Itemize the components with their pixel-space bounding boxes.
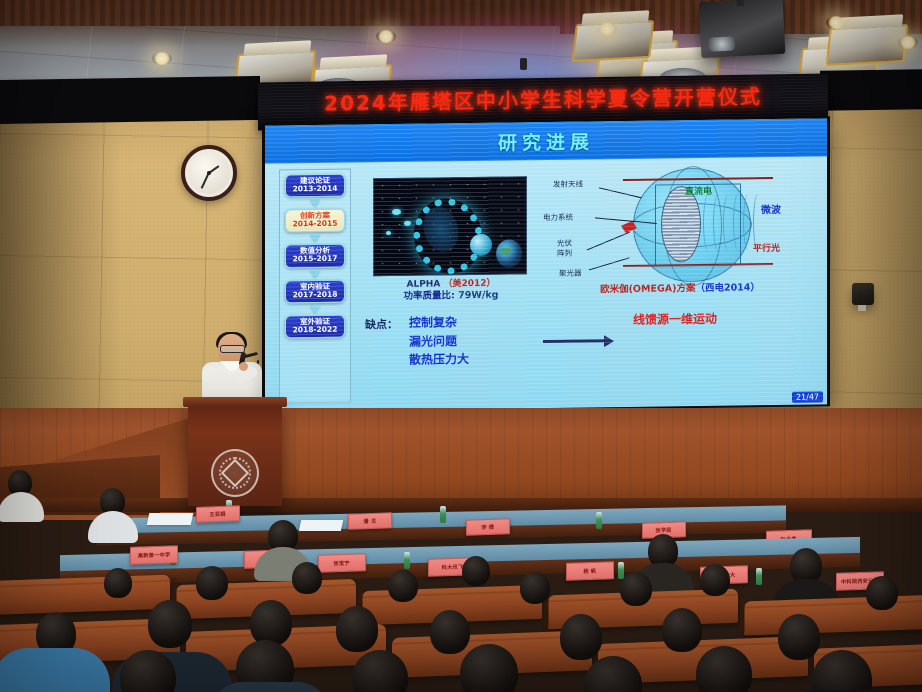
audience-head bbox=[560, 614, 602, 660]
nameplate-text: 李 倩 bbox=[482, 523, 495, 531]
table-nameplate: 李 倩 bbox=[466, 518, 510, 536]
timeline-arrow-icon bbox=[310, 305, 320, 313]
presenter-hand bbox=[239, 362, 248, 371]
diagram-label-microwave: 微波 bbox=[761, 201, 781, 216]
diagram-label-power-system: 电力系统 bbox=[543, 212, 573, 223]
diagram-caption: 欧米伽(OMEGA)方案（西电2014） bbox=[551, 279, 809, 296]
timeline-step-years: 2013-2014 bbox=[286, 185, 344, 194]
ceiling-bulb bbox=[376, 30, 396, 43]
timeline-arrow-icon bbox=[310, 234, 320, 242]
nameplate-text: 张宝宁 bbox=[334, 559, 350, 567]
ceiling-bulb bbox=[826, 16, 846, 29]
nameplate-text: 科大讯飞 bbox=[441, 563, 463, 571]
timeline-step-3: 数值分析 2015-2017 bbox=[285, 244, 345, 268]
audience-head bbox=[520, 572, 550, 604]
audience-head bbox=[700, 564, 730, 596]
table-nameplate: 杨 帆 bbox=[566, 561, 614, 581]
timeline-step-years: 2014-2015 bbox=[286, 220, 344, 229]
table-papers bbox=[299, 520, 343, 531]
arrow-right-icon bbox=[543, 339, 605, 343]
ceiling-bulb bbox=[898, 36, 918, 49]
nameplate-text: 王亚娟 bbox=[210, 510, 226, 518]
audience-head bbox=[250, 600, 292, 646]
auditorium-photo: 2024年雁塔区中小学生科学夏令营开营仪式 研究进展 建议论证 2013-201… bbox=[0, 0, 922, 692]
nameplate-text: 潘 戈 bbox=[364, 517, 377, 525]
diagram-label-concentrator: 聚光器 bbox=[559, 268, 582, 279]
slide-satellite-photo bbox=[373, 176, 527, 276]
clock-center-dot bbox=[207, 171, 211, 175]
ceiling-bulb bbox=[597, 22, 617, 35]
audience-head bbox=[148, 600, 192, 648]
nameplate-text: 杨 帆 bbox=[584, 567, 597, 575]
water-bottle bbox=[756, 568, 762, 585]
audience-head bbox=[104, 568, 132, 598]
ceiling-projector bbox=[699, 0, 786, 58]
table-nameplate: 张宝宁 bbox=[318, 553, 366, 573]
diagram-label-parallel-light: 平行光 bbox=[753, 241, 780, 254]
photo-caption-metric-label: 功率质量比 bbox=[404, 290, 452, 302]
ceiling-bulb bbox=[152, 52, 172, 65]
nameplate-text: 高新第一中学 bbox=[138, 551, 170, 560]
audience-head bbox=[196, 566, 228, 600]
audience-head bbox=[336, 606, 378, 652]
nameplate-text: 张学民 bbox=[656, 526, 672, 534]
diagram-label-dc-power: 直流电 bbox=[685, 184, 712, 197]
projector-lens-icon bbox=[708, 36, 735, 51]
audience-head bbox=[866, 576, 898, 610]
water-bottle bbox=[618, 562, 624, 579]
slide-timeline: 建议论证 2013-2014 创新方案 2014-2015 数值分析 2015-… bbox=[279, 169, 351, 404]
slide-body: 建议论证 2013-2014 创新方案 2014-2015 数值分析 2015-… bbox=[265, 156, 827, 411]
audience-head bbox=[778, 614, 820, 660]
leader-line bbox=[587, 232, 630, 251]
slide-photo-caption: ALPHA （美2012） 功率质量比: 79W/kg bbox=[361, 278, 541, 303]
timeline-step-years: 2017-2018 bbox=[286, 290, 344, 299]
diagram-antenna-array bbox=[661, 186, 701, 263]
audience-head bbox=[662, 608, 702, 652]
audience-shoulders bbox=[0, 648, 110, 692]
photo-caption-line2: 功率质量比: 79W/kg bbox=[361, 289, 541, 303]
drawbacks-label: 缺点： bbox=[365, 316, 398, 332]
photo-caption-origin: （美2012） bbox=[443, 279, 495, 290]
audience-head bbox=[462, 556, 490, 586]
photo-caption-name: ALPHA bbox=[407, 279, 441, 289]
table-nameplate: 王亚娟 bbox=[196, 505, 240, 523]
podium bbox=[188, 403, 282, 506]
water-bottle bbox=[404, 552, 410, 569]
timeline-step-4: 室内验证 2017-2018 bbox=[285, 279, 345, 303]
table-papers bbox=[147, 513, 194, 525]
slide-omega-diagram: 发射天线 电力系统 光伏 阵列 聚光器 直流电 微波 平行光 欧米伽(OMEGA… bbox=[537, 163, 809, 289]
slide-drawbacks-block: 缺点： 控制复杂 漏光问题 散热压力大 线馈源一维运动 bbox=[365, 309, 805, 399]
auditorium-seat-row[interactable] bbox=[0, 575, 170, 616]
podium-top bbox=[183, 397, 287, 407]
audience-head bbox=[292, 562, 322, 594]
diagram-caption-origin: （西电2014） bbox=[695, 282, 759, 294]
leader-line bbox=[589, 257, 630, 270]
table-nameplate: 潘 戈 bbox=[348, 512, 392, 530]
diagram-microwave-beam bbox=[701, 193, 761, 252]
timeline-arrow-icon bbox=[310, 199, 320, 207]
diagram-caption-main: 欧米伽(OMEGA)方案 bbox=[600, 283, 695, 295]
timeline-step-years: 2018-2022 bbox=[286, 325, 344, 334]
led-banner-right-dark bbox=[820, 69, 922, 111]
drawbacks-list: 控制复杂 漏光问题 散热压力大 bbox=[409, 313, 469, 370]
diagram-label-array: 阵列 bbox=[557, 248, 572, 259]
audience-head bbox=[388, 570, 418, 602]
led-banner-text: 2024年雁塔区中小学生科学夏令营开营仪式 bbox=[258, 80, 828, 118]
timeline-step-years: 2015-2017 bbox=[286, 255, 344, 264]
timeline-arrow-icon bbox=[310, 270, 320, 278]
water-bottle bbox=[440, 506, 446, 523]
led-banner-left-dark bbox=[0, 76, 260, 124]
timeline-step-2: 创新方案 2014-2015 bbox=[285, 209, 345, 233]
drawbacks-result: 线馈源一维运动 bbox=[633, 310, 717, 328]
timeline-step-1: 建议论证 2013-2014 bbox=[285, 174, 345, 198]
wall-mounted-speaker bbox=[852, 283, 874, 305]
projector-mount bbox=[736, 0, 744, 6]
seat-divider bbox=[740, 596, 745, 632]
ceiling-light-fixture bbox=[826, 24, 909, 66]
ceiling-smoke-detector bbox=[520, 58, 527, 70]
podium-emblem bbox=[211, 449, 259, 497]
audience-head bbox=[620, 572, 652, 606]
projection-slide: 研究进展 建议论证 2013-2014 创新方案 2014-2015 数值分析 … bbox=[265, 118, 827, 411]
audience-head bbox=[430, 610, 470, 654]
drawback-item: 控制复杂 bbox=[409, 313, 469, 332]
table-nameplate: 高新第一中学 bbox=[130, 545, 178, 565]
drawback-item: 散热压力大 bbox=[409, 350, 469, 369]
slide-page-number: 21/47 bbox=[792, 391, 823, 402]
photo-caption-metric-value: : 79W/kg bbox=[451, 290, 498, 302]
drawback-item: 漏光问题 bbox=[409, 332, 469, 351]
slide-title-text: 研究进展 bbox=[498, 127, 594, 155]
water-bottle bbox=[596, 512, 602, 529]
leader-line bbox=[599, 187, 642, 198]
wall-clock bbox=[181, 145, 237, 201]
diagram-label-transmit-antenna: 发射天线 bbox=[553, 179, 583, 190]
timeline-step-5: 室外验证 2018-2022 bbox=[285, 314, 345, 338]
